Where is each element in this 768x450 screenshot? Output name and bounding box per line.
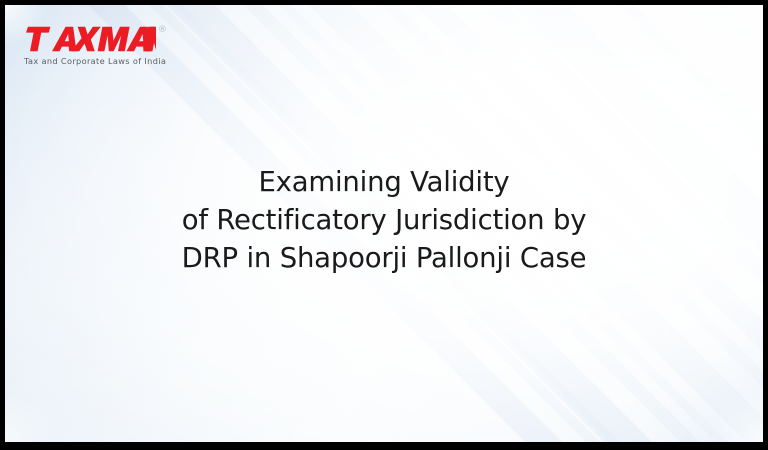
- headline-line-2: of Rectificatory Jurisdiction by: [5, 201, 763, 239]
- taxmann-logo[interactable]: ® Tax and Corporate Laws of India: [24, 25, 169, 66]
- taxmann-wordmark-icon: ®: [24, 25, 156, 53]
- article-banner: ® Tax and Corporate Laws of India Examin…: [0, 0, 768, 450]
- registered-trademark-icon: ®: [158, 26, 167, 35]
- headline-line-1: Examining Validity: [5, 163, 763, 201]
- banner-canvas: ® Tax and Corporate Laws of India Examin…: [5, 5, 763, 442]
- headline-line-3: DRP in Shapoorji Pallonji Case: [5, 239, 763, 277]
- taxmann-tagline: Tax and Corporate Laws of India: [24, 56, 169, 66]
- banner-headline: Examining Validity of Rectificatory Juri…: [5, 163, 763, 277]
